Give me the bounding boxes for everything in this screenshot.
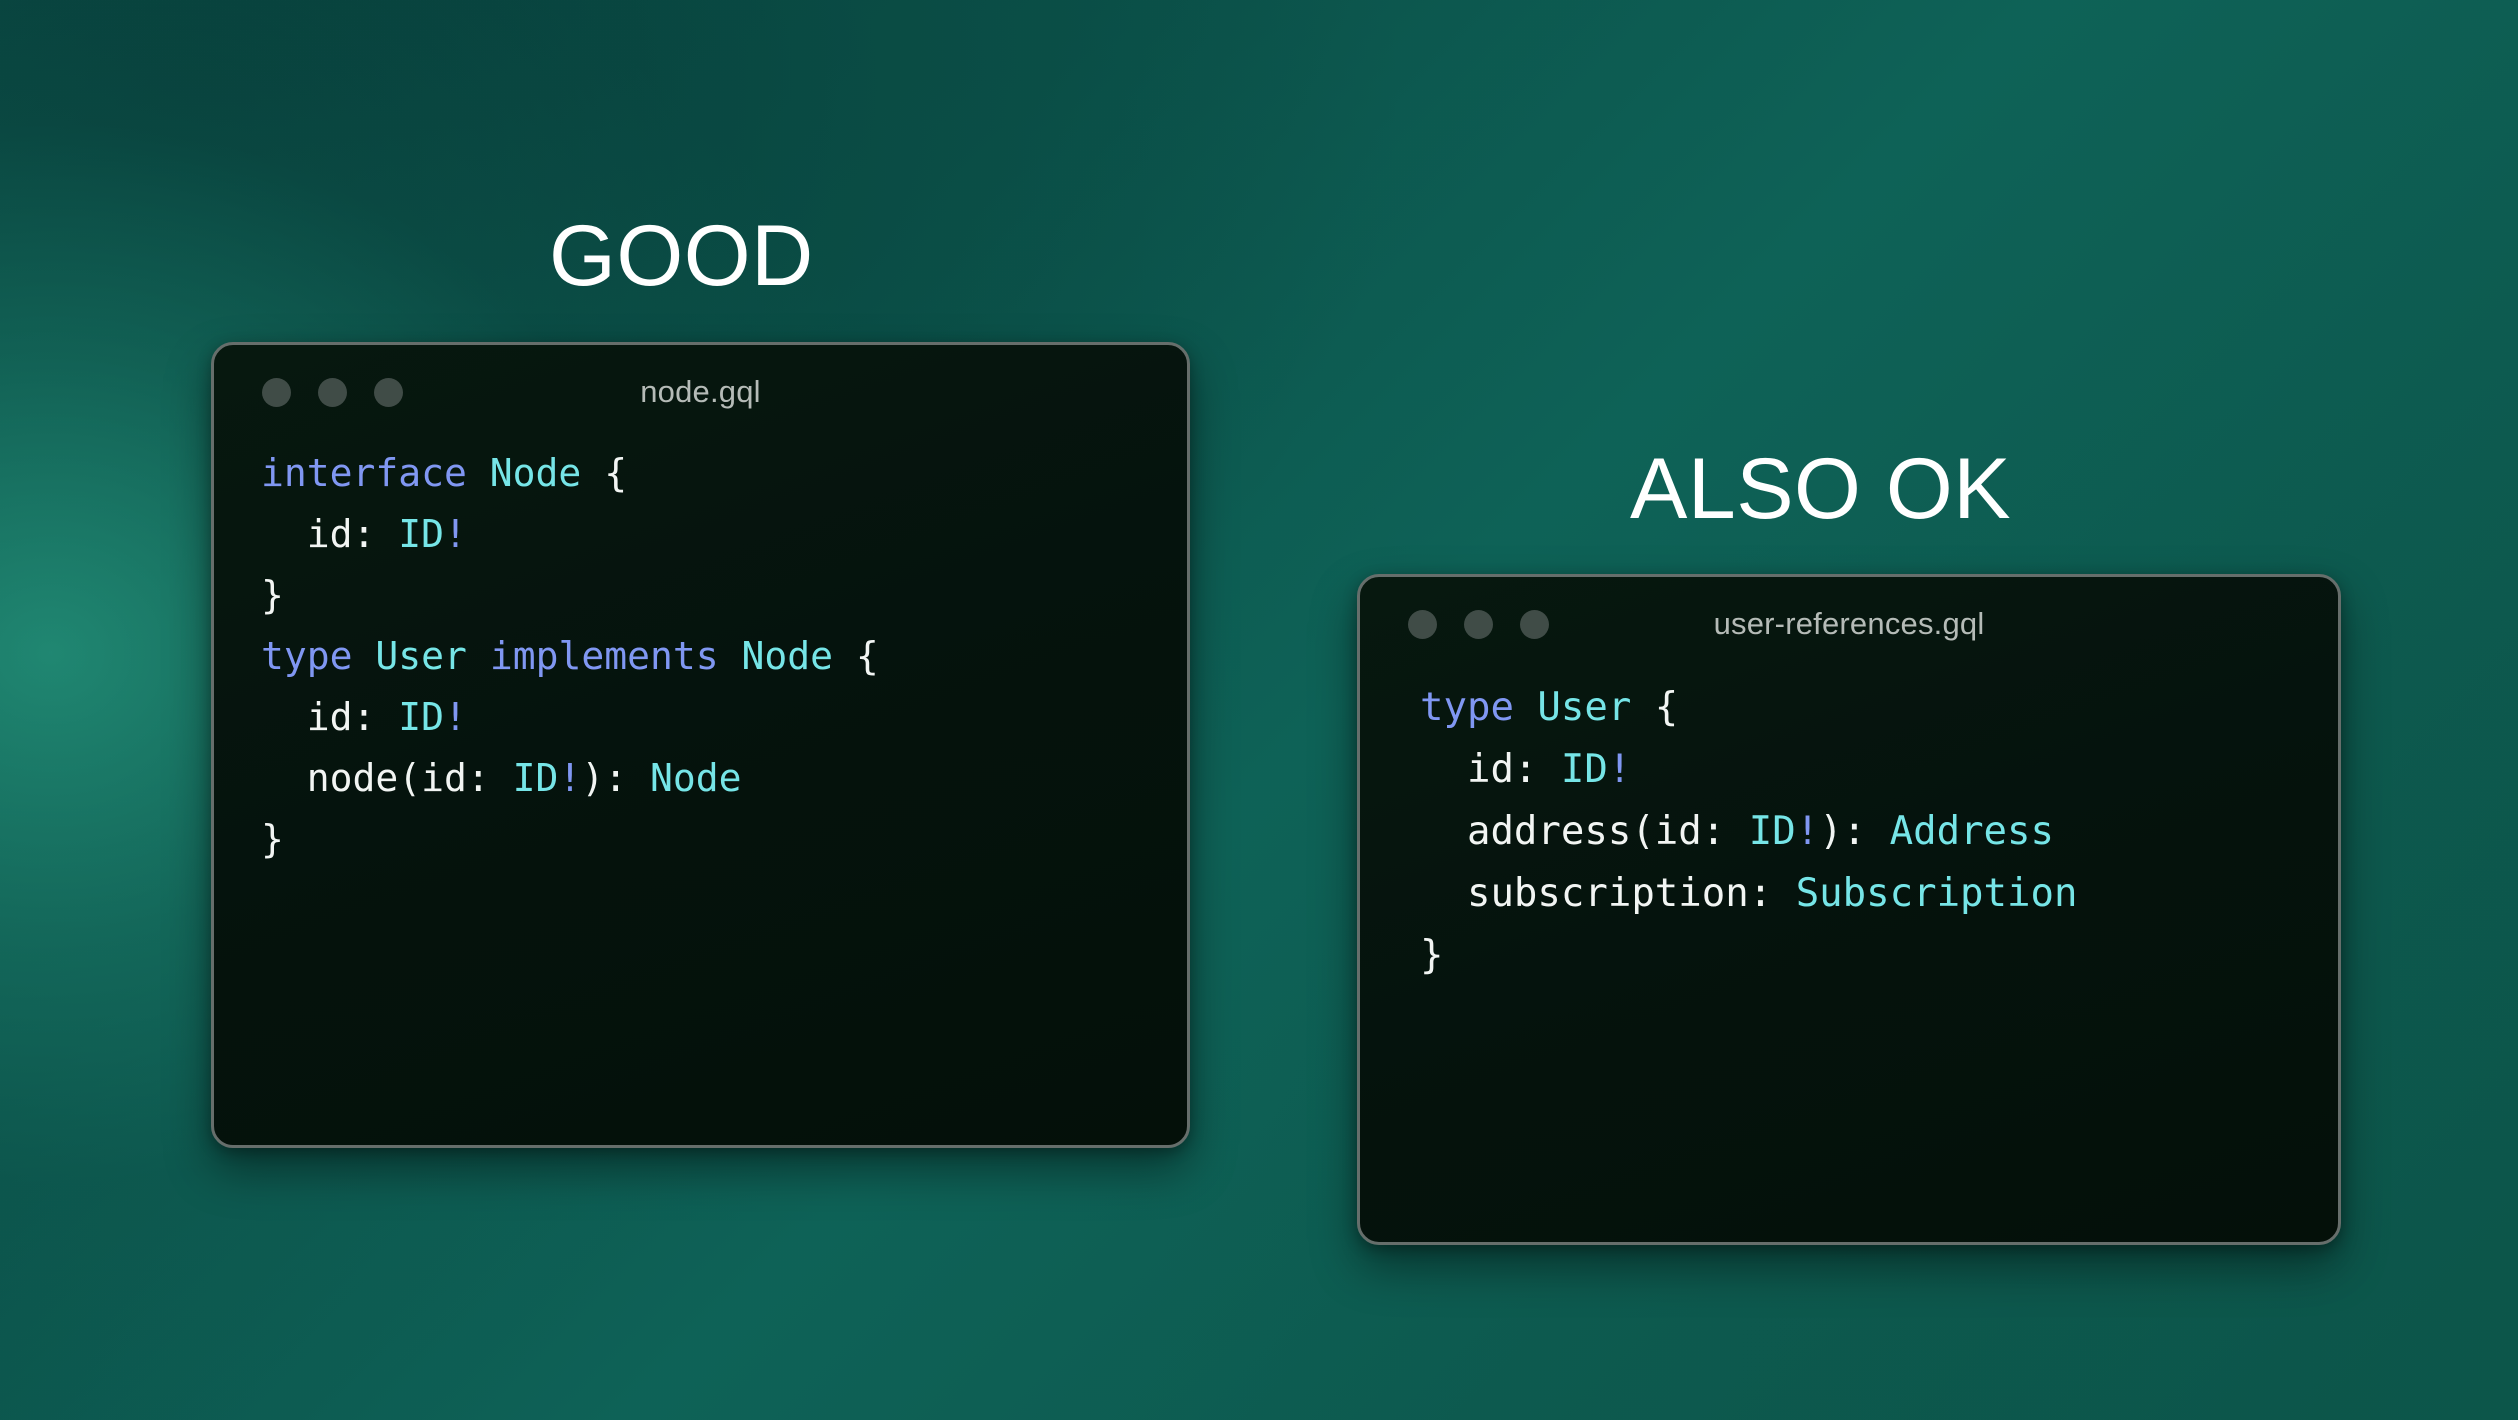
code-token: Subscription [1796,871,2078,916]
code-line: } [261,809,1187,870]
window-titlebar: node.gql [214,345,1187,439]
code-line: id: ID! [1420,739,2338,801]
code-token: id: [261,695,398,739]
code-token: ! [1608,747,1631,792]
code-token: } [261,817,284,861]
code-token: Node [741,634,833,678]
code-line: type User implements Node { [261,626,1187,687]
code-token: ID [513,756,559,800]
code-token: { [1631,685,1678,730]
code-token: { [581,451,627,495]
code-token: Address [1890,809,2054,854]
code-token: ): [581,756,650,800]
traffic-light-dot-maximize[interactable] [1520,610,1549,639]
code-line: interface Node { [261,443,1187,504]
code-token: { [833,634,879,678]
code-line: type User { [1420,677,2338,739]
code-token: type [1420,685,1514,730]
code-token: interface [261,451,467,495]
code-token: } [261,573,284,617]
code-block-also-ok: type User { id: ID! address(id: ID!): Ad… [1360,677,2338,987]
code-token: ! [558,756,581,800]
window-titlebar: user-references.gql [1360,577,2338,671]
code-line: id: ID! [261,504,1187,565]
traffic-light-dot-minimize[interactable] [318,378,347,407]
code-token: ID [398,512,444,556]
code-window-also-ok: user-references.gql type User { id: ID! … [1357,574,2341,1245]
heading-good: GOOD [549,213,814,299]
code-token: id: [1420,747,1561,792]
code-block-good: interface Node { id: ID!}type User imple… [214,443,1187,870]
code-line: } [261,565,1187,626]
code-line: id: ID! [261,687,1187,748]
code-token: Node [490,451,582,495]
traffic-light-dots [1408,610,1549,639]
heading-also-ok: ALSO OK [1630,446,2011,532]
code-token [353,634,376,678]
code-token: Node [650,756,742,800]
code-token: id: [261,512,398,556]
code-token: ID [1749,809,1796,854]
code-line: } [1420,925,2338,987]
code-line: address(id: ID!): Address [1420,801,2338,863]
code-token [467,451,490,495]
code-token: User [375,634,467,678]
code-token: ! [444,695,467,739]
code-token: implements [490,634,719,678]
code-token: ID [398,695,444,739]
code-token: ID [1561,747,1608,792]
code-token: ! [444,512,467,556]
code-token: ! [1796,809,1819,854]
traffic-light-dot-close[interactable] [1408,610,1437,639]
code-token [1514,685,1537,730]
code-token [719,634,742,678]
code-token: } [1420,933,1443,978]
code-token: type [261,634,353,678]
code-line: node(id: ID!): Node [261,748,1187,809]
code-token: User [1537,685,1631,730]
code-token: address(id: [1420,809,1749,854]
code-token: node(id: [261,756,513,800]
traffic-light-dot-maximize[interactable] [374,378,403,407]
traffic-light-dot-close[interactable] [262,378,291,407]
code-window-good: node.gql interface Node { id: ID!}type U… [211,342,1190,1148]
code-line: subscription: Subscription [1420,863,2338,925]
code-token: subscription: [1420,871,1796,916]
traffic-light-dot-minimize[interactable] [1464,610,1493,639]
code-token: ): [1819,809,1889,854]
code-token [467,634,490,678]
traffic-light-dots [262,378,403,407]
